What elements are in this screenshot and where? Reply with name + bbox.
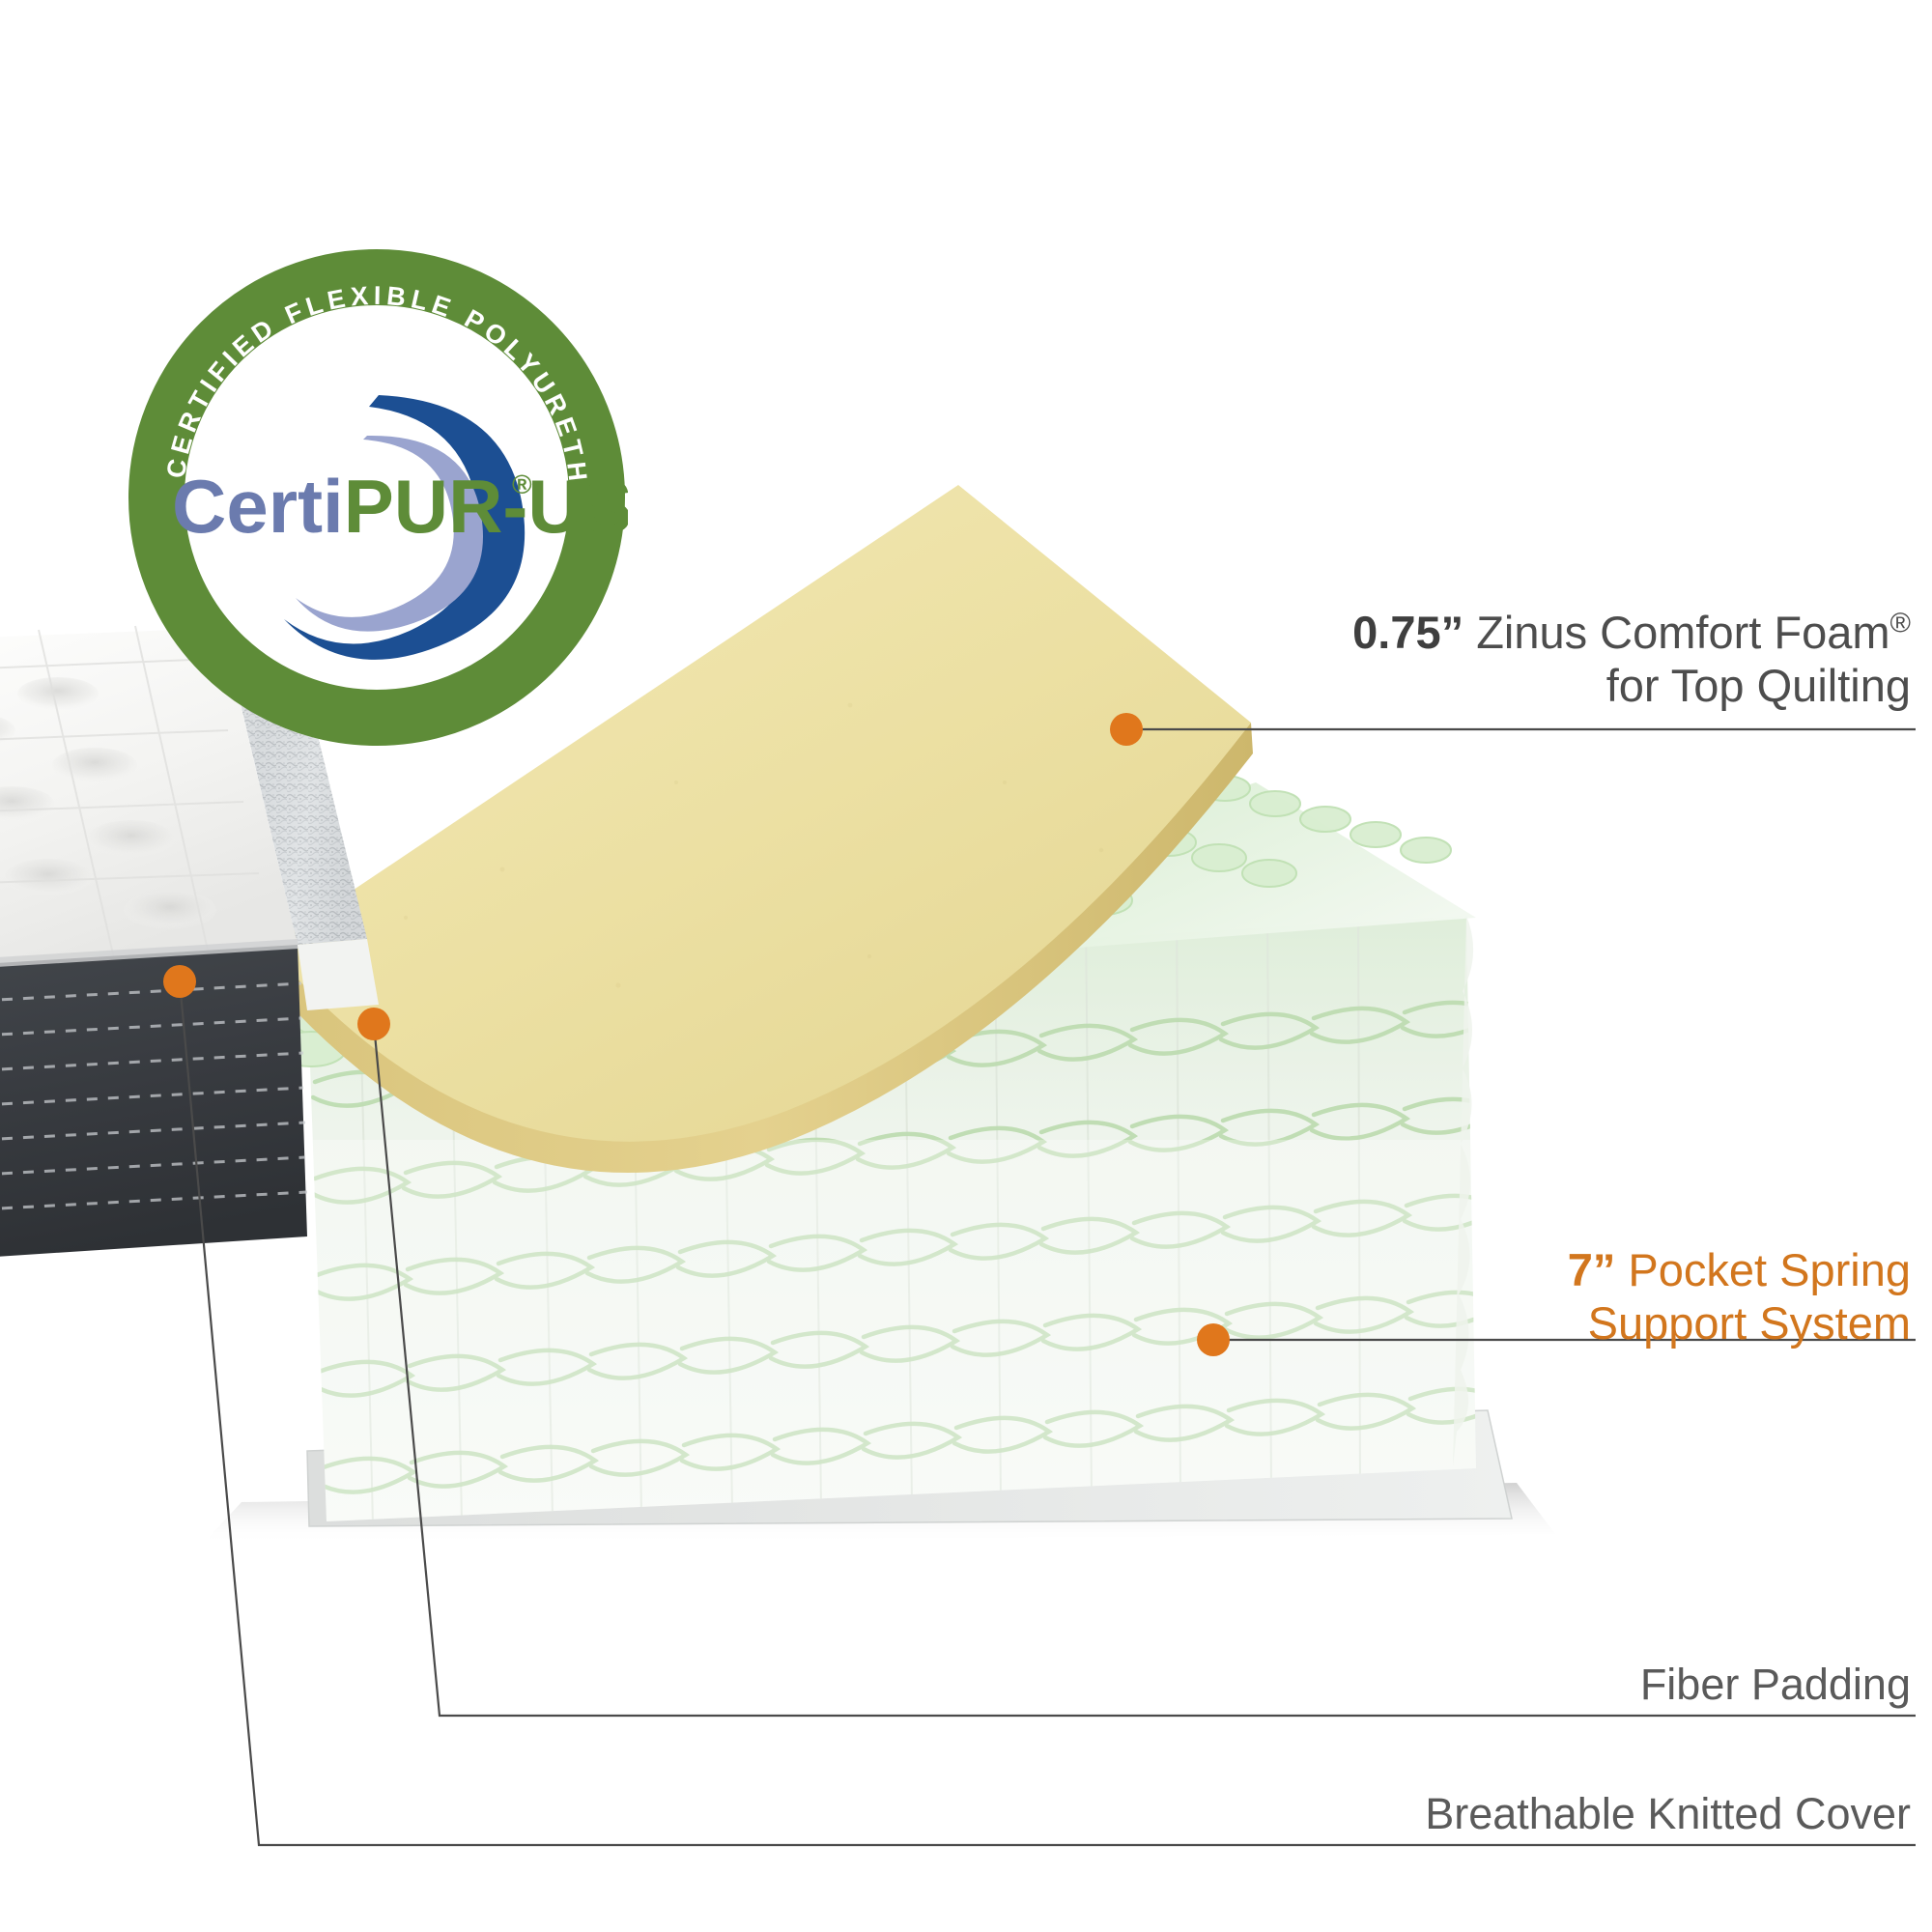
callout-pocket-spring-line1: 7” Pocket Spring [1235, 1244, 1911, 1297]
callout-fiber-padding: Fiber Padding [1235, 1660, 1911, 1710]
callout-comfort-foam-text: Zinus Comfort Foam [1463, 607, 1889, 658]
callout-pocket-spring: 7” Pocket Spring Support System [1235, 1244, 1911, 1350]
callout-comfort-foam-line1: 0.75” Zinus Comfort Foam® [1080, 607, 1911, 660]
registered-mark-icon: ® [1890, 608, 1911, 639]
callout-pocket-spring-measure: 7” [1568, 1244, 1616, 1295]
infographic-canvas: CONTAINS CERTIFIED FLEXIBLE POLYURETHANE… [0, 0, 1932, 1932]
callout-pocket-spring-text: Pocket Spring [1615, 1244, 1911, 1295]
callout-breathable-knitted-cover: Breathable Knitted Cover [1177, 1789, 1911, 1839]
callout-comfort-foam-measure: 0.75” [1352, 607, 1463, 658]
badge-wordmark-purus: PUR-US [344, 464, 628, 549]
callout-knitted-cover-label: Breathable Knitted Cover [1177, 1789, 1911, 1839]
under-cover-band [298, 939, 379, 1010]
callout-comfort-foam: 0.75” Zinus Comfort Foam® for Top Quilti… [1080, 607, 1911, 712]
callout-pocket-spring-line2: Support System [1235, 1297, 1911, 1350]
badge-wordmark-registered: ® [512, 469, 532, 499]
svg-text:CertiPUR-US: CertiPUR-US [172, 464, 628, 549]
certipur-us-badge: CONTAINS CERTIFIED FLEXIBLE POLYURETHANE… [126, 246, 628, 749]
badge-wordmark-certi: Certi [172, 464, 344, 549]
callout-comfort-foam-line2: for Top Quilting [1080, 660, 1911, 713]
callout-fiber-padding-label: Fiber Padding [1235, 1660, 1911, 1710]
